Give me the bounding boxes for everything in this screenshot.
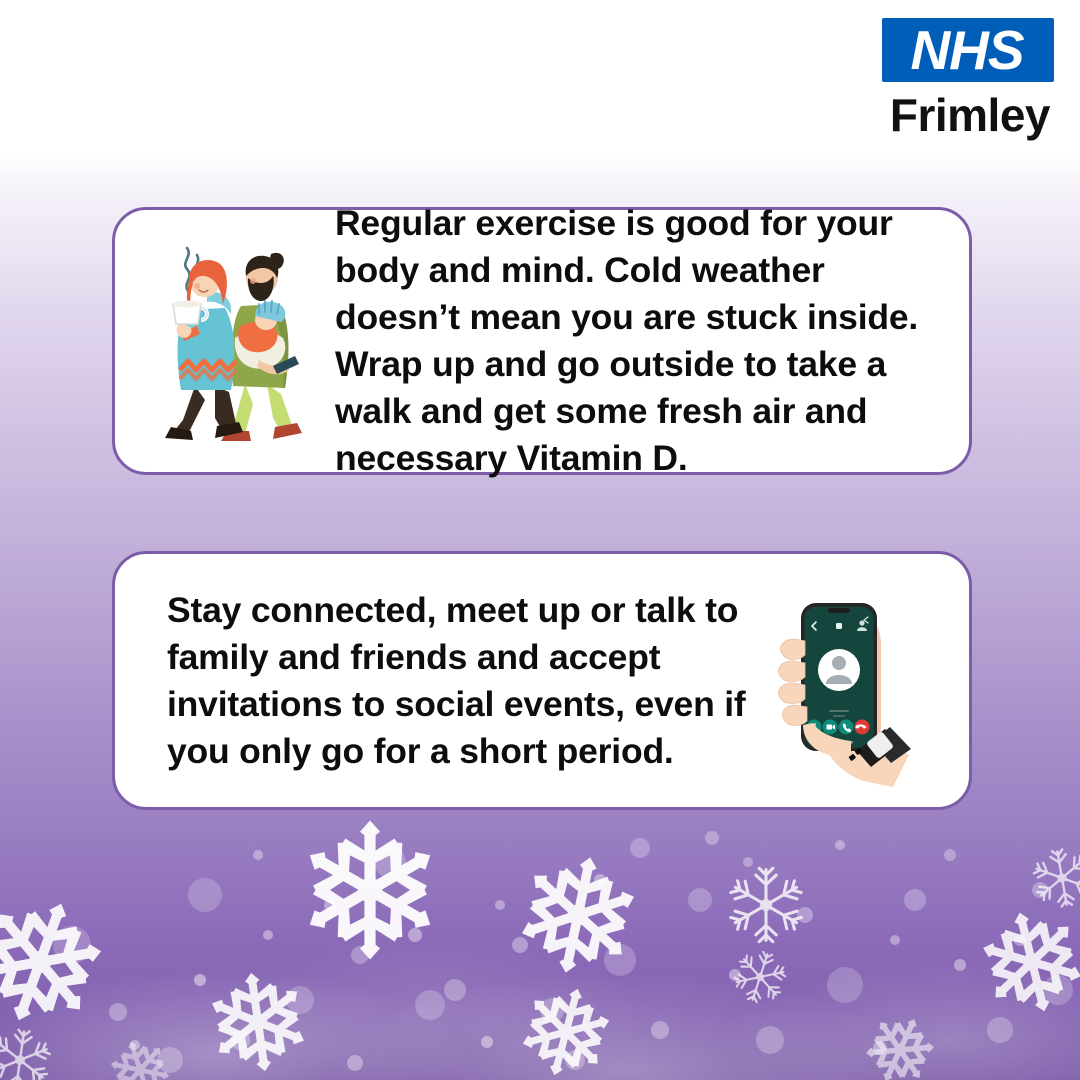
poster-canvas: NHS Frimley [0, 0, 1080, 1080]
nhs-logo-mark: NHS [882, 18, 1054, 82]
hand-holding-phone-icon [759, 575, 919, 787]
tip-card-stay-connected: Stay connected, meet up or talk to famil… [112, 551, 972, 810]
phone-button [839, 719, 854, 734]
nhs-frimley-logo: NHS Frimley [882, 18, 1054, 140]
card-exercise-text: Regular exercise is good for your body a… [335, 200, 947, 482]
card-connect-text: Stay connected, meet up or talk to famil… [167, 587, 747, 775]
tip-card-exercise: Regular exercise is good for your body a… [112, 207, 972, 475]
nhs-logo-locality: Frimley [882, 90, 1054, 140]
background-gradient [0, 0, 1080, 1080]
couple-walking-with-baby-icon [149, 234, 319, 449]
screen-top-square-icon [836, 623, 842, 629]
